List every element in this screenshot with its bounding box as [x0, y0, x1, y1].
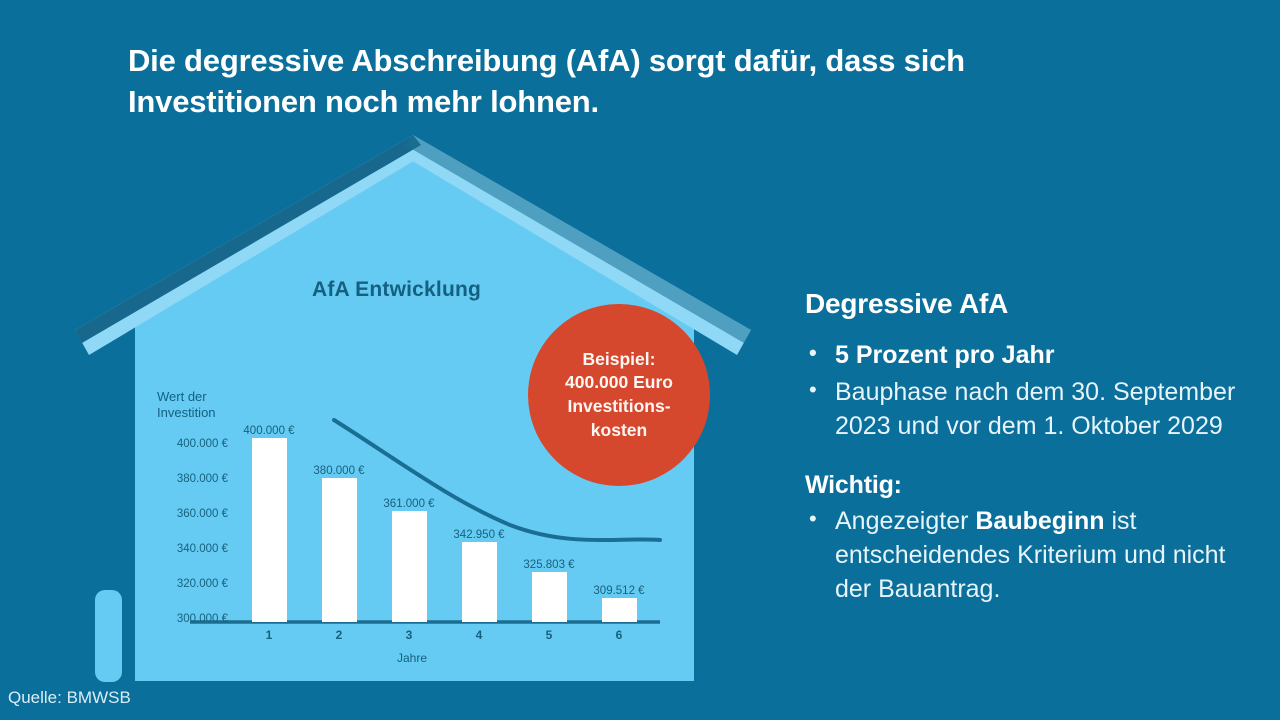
- bar-year-2: [322, 478, 357, 622]
- panel-important-heading: Wichtig:: [805, 471, 1245, 500]
- headline-line-1: Die degressive Abschreibung (AfA) sorgt …: [128, 43, 965, 78]
- callout-line-2: 400.000 Euro: [565, 371, 673, 395]
- panel-bullet-list: 5 Prozent pro Jahr Bauphase nach dem 30.…: [805, 338, 1245, 443]
- y-axis-title-line-2: Investition: [157, 405, 216, 421]
- x-tick-label: 4: [459, 628, 499, 642]
- chart-y-axis-title: Wert der Investition: [157, 389, 216, 422]
- x-tick-label: 2: [319, 628, 359, 642]
- y-tick-label: 400.000 €: [177, 438, 228, 450]
- bar-value-label: 325.803 €: [504, 559, 594, 571]
- panel-bullet-item: 5 Prozent pro Jahr: [805, 338, 1245, 372]
- source-attribution: Quelle: BMWSB: [8, 688, 131, 708]
- y-tick-label: 340.000 €: [177, 543, 228, 555]
- infographic-slide: Die degressive Abschreibung (AfA) sorgt …: [0, 0, 1280, 720]
- chart-title: AfA Entwicklung: [312, 278, 481, 302]
- bar-value-label: 380.000 €: [294, 465, 384, 477]
- bar-year-3: [392, 511, 427, 622]
- bar-year-1: [252, 438, 287, 622]
- x-tick-label: 3: [389, 628, 429, 642]
- bar-value-label: 309.512 €: [574, 585, 664, 597]
- callout-line-1: Beispiel:: [583, 348, 656, 372]
- y-tick-label: 380.000 €: [177, 473, 228, 485]
- callout-line-3: Investitions-: [567, 395, 670, 419]
- info-panel: Degressive AfA 5 Prozent pro Jahr Baupha…: [805, 288, 1245, 609]
- headline-line-2: Investitionen noch mehr lohnen.: [128, 81, 1068, 122]
- callout-line-4: kosten: [591, 419, 647, 443]
- panel-bullet-item: Bauphase nach dem 30. September 2023 und…: [805, 375, 1245, 443]
- page-title: Die degressive Abschreibung (AfA) sorgt …: [128, 40, 1068, 122]
- y-tick-label: 320.000 €: [177, 578, 228, 590]
- panel-heading: Degressive AfA: [805, 288, 1245, 320]
- panel-important-item: Angezeigter Baubeginn ist entscheidendes…: [805, 504, 1245, 606]
- y-axis-title-line-1: Wert der: [157, 389, 216, 405]
- bar-value-label: 342.950 €: [434, 529, 524, 541]
- bar-value-label: 400.000 €: [224, 425, 314, 437]
- example-callout-badge: Beispiel: 400.000 Euro Investitions- kos…: [528, 304, 710, 486]
- bar-year-6: [602, 598, 637, 622]
- bar-value-label: 361.000 €: [364, 498, 454, 510]
- x-tick-label: 6: [599, 628, 639, 642]
- y-tick-label: 360.000 €: [177, 508, 228, 520]
- important-text-pre: Angezeigter: [835, 507, 975, 535]
- bar-year-4: [462, 542, 497, 622]
- house-side-pillar: [95, 590, 122, 682]
- x-tick-label: 5: [529, 628, 569, 642]
- important-text-bold: Baubeginn: [975, 507, 1104, 535]
- bar-year-5: [532, 572, 567, 622]
- panel-important-list: Angezeigter Baubeginn ist entscheidendes…: [805, 504, 1245, 606]
- y-tick-label: 300.000 €: [177, 613, 228, 625]
- x-tick-label: 1: [249, 628, 289, 642]
- chart-y-ticks: 400.000 € 380.000 € 360.000 € 340.000 € …: [148, 430, 228, 630]
- chart-x-axis-title: Jahre: [397, 651, 427, 665]
